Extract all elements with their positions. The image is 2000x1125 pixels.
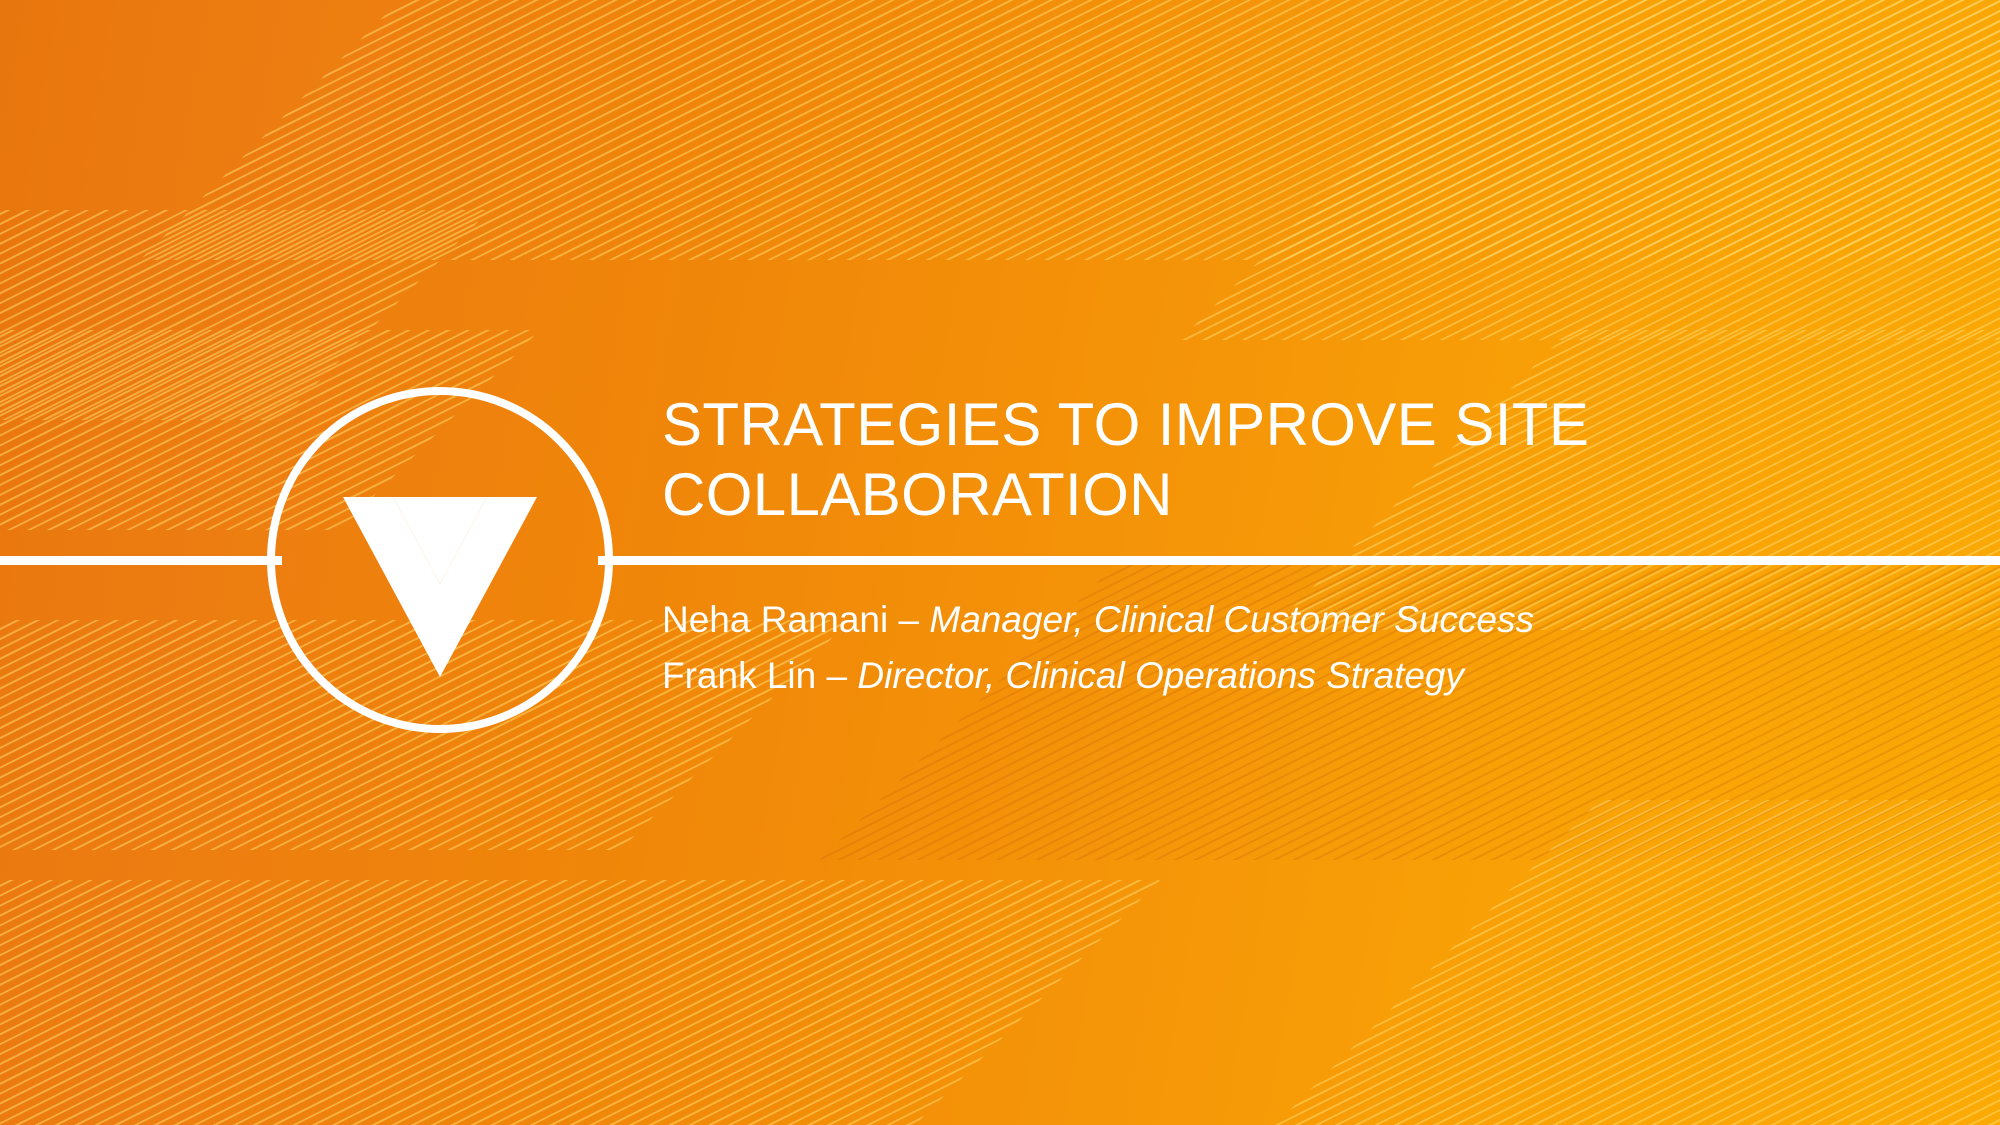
stripe-band-bottom-right	[1180, 800, 2000, 1125]
presenter-name-1: Neha Ramani	[662, 599, 888, 640]
presenter-separator-1: –	[888, 599, 929, 640]
presenter-role-2: Director, Clinical Operations Strategy	[857, 655, 1464, 696]
presenter-list: Neha Ramani – Manager, Clinical Customer…	[662, 592, 1862, 704]
title-slide: STRATEGIES TO IMPROVE SITE COLLABORATION…	[0, 0, 2000, 1125]
veeva-logo	[265, 385, 615, 735]
page-title: STRATEGIES TO IMPROVE SITE COLLABORATION	[662, 390, 1762, 530]
presenter-line-1: Neha Ramani – Manager, Clinical Customer…	[662, 592, 1862, 648]
divider-rule-right	[598, 556, 2000, 565]
presenter-role-1: Manager, Clinical Customer Success	[929, 599, 1534, 640]
presenter-line-2: Frank Lin – Director, Clinical Operation…	[662, 648, 1862, 704]
stripe-band-bottom-left	[0, 880, 1160, 1125]
presenter-name-2: Frank Lin	[662, 655, 816, 696]
stripe-band-top	[140, 0, 2000, 260]
presenter-separator-2: –	[816, 655, 857, 696]
stripe-band-top-right	[1180, 0, 2000, 340]
divider-rule-left	[0, 556, 282, 565]
